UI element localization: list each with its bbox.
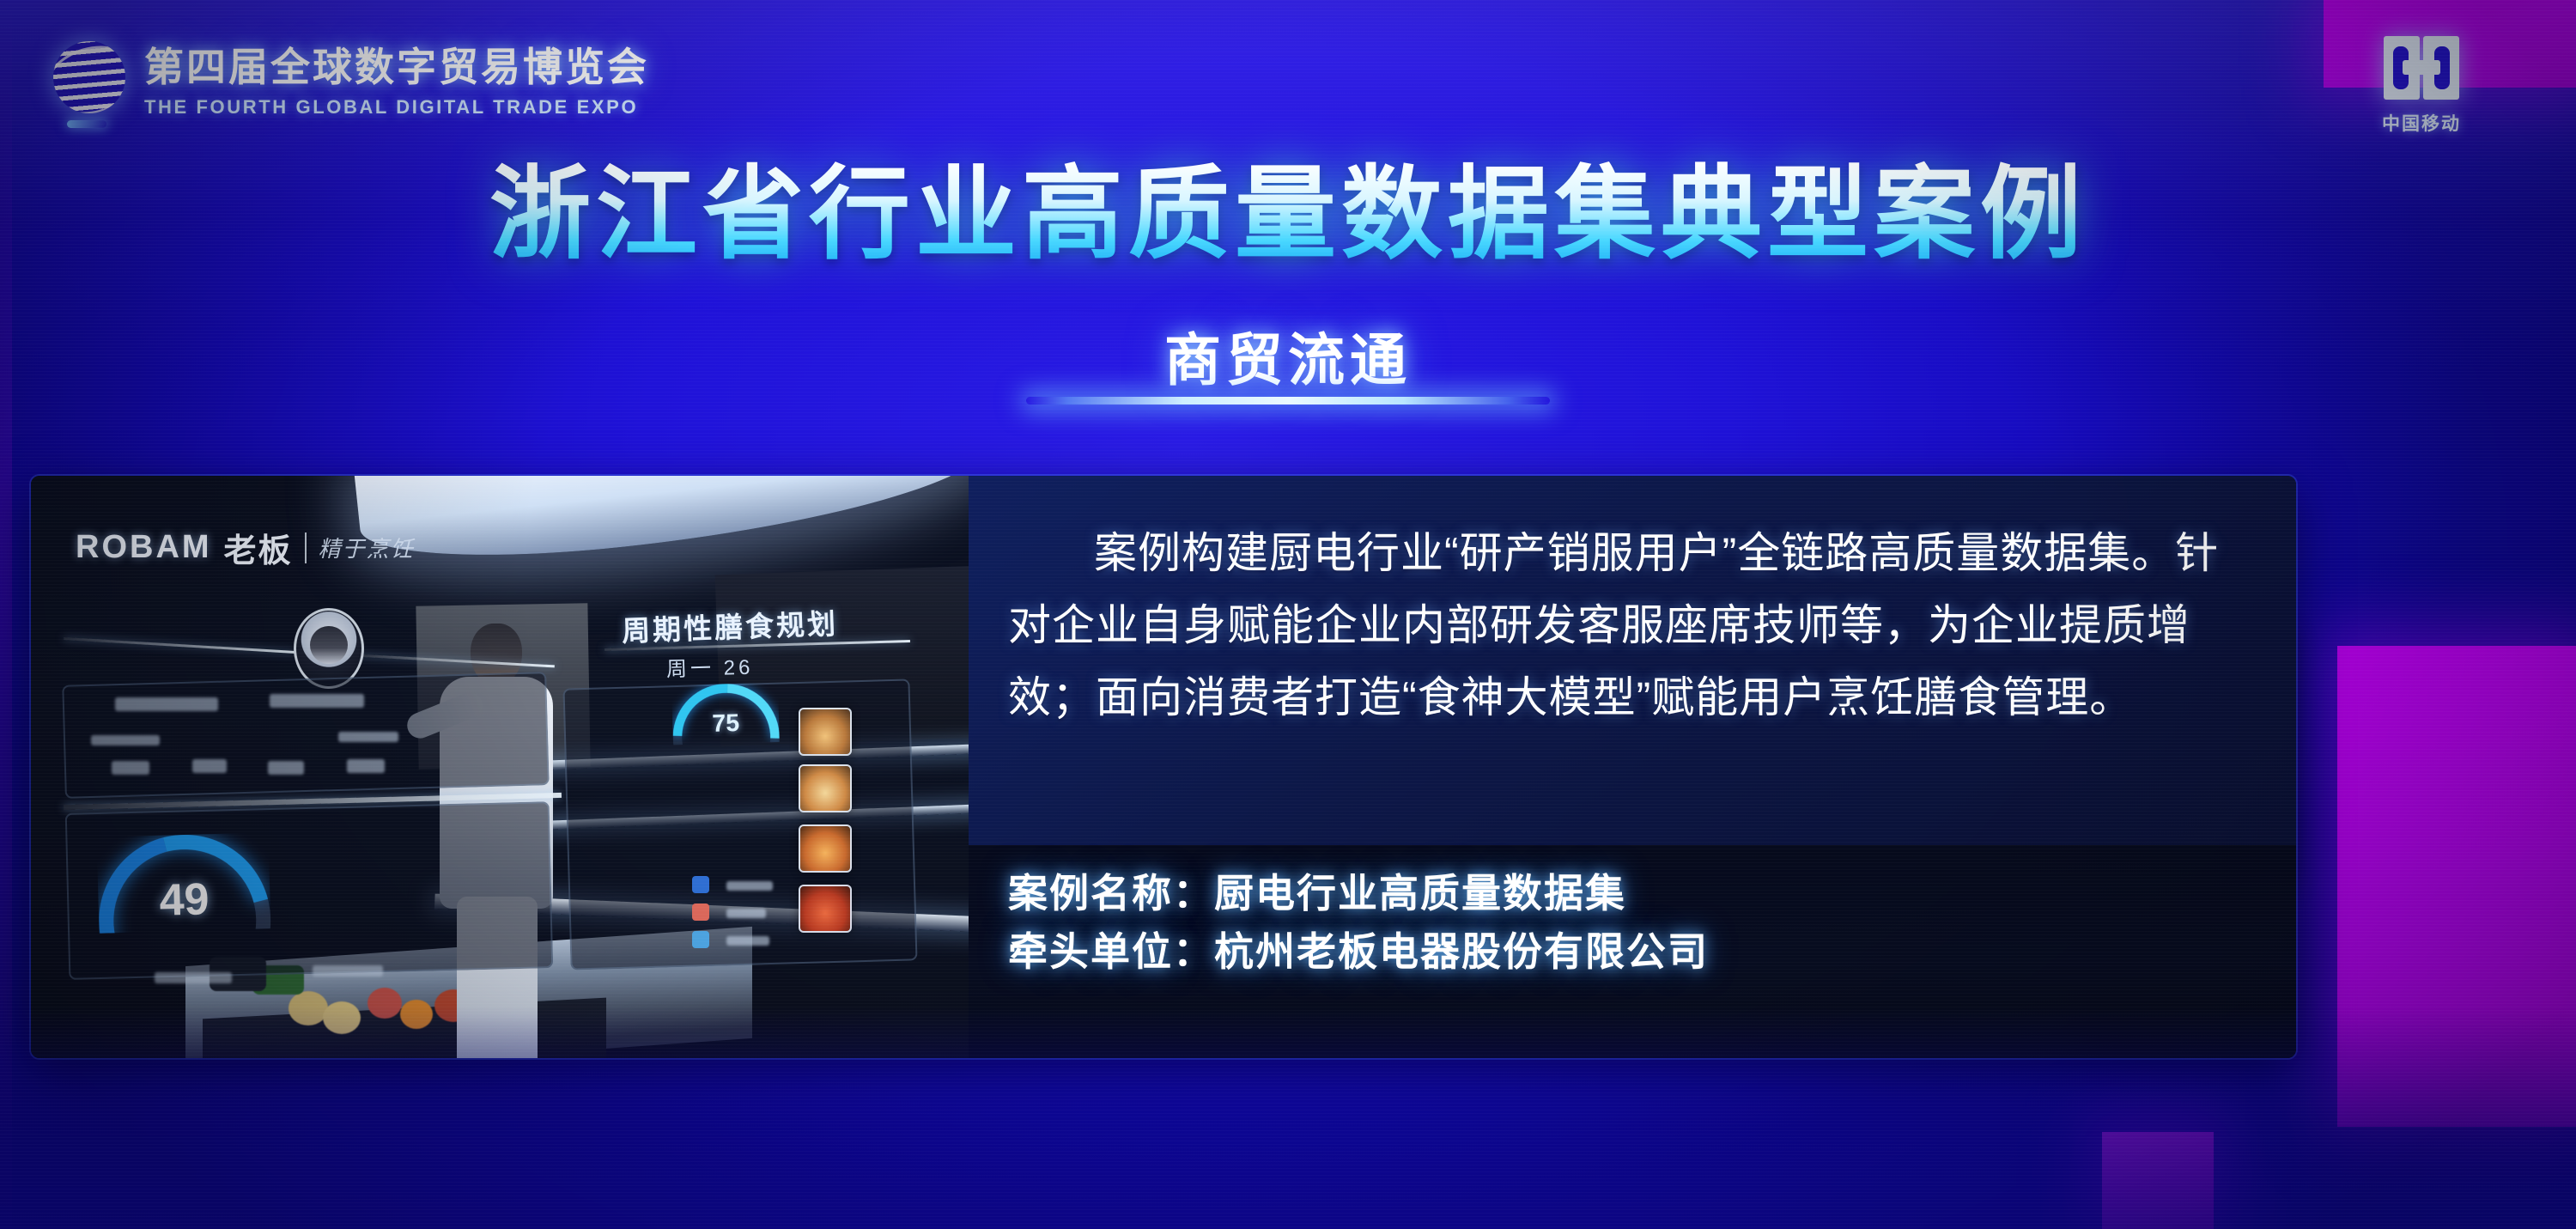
kitchen-dashboard: ROBAM 老板 精于烹饪 周期性膳食规划 周一 26 (55, 515, 914, 962)
gauge-value: 75 (672, 707, 780, 739)
dashboard-title: 周期性膳食规划 (621, 601, 839, 650)
lead-unit-line: 牵头单位：杭州老板电器股份有限公司 (1008, 922, 2257, 981)
dashboard-metric-value (192, 759, 227, 773)
background-bottom-shade (0, 1006, 2576, 1229)
dashboard-metric-label (155, 972, 232, 983)
case-description: 案例构建厨电行业“研产销服用户”全链路高质量数据集。针对企业自身赋能企业内部研发… (1008, 517, 2248, 733)
case-description-block: 案例构建厨电行业“研产销服用户”全链路高质量数据集。针对企业自身赋能企业内部研发… (969, 476, 2296, 845)
robam-brand: ROBAM 老板 精于烹饪 (76, 524, 415, 571)
partner-name-cn: 中国移动 (2382, 110, 2461, 136)
dashboard-metric-label (270, 694, 364, 708)
presentation-screen: 第四届全球数字贸易博览会 THE FOURTH GLOBAL DIGITAL T… (0, 0, 2576, 1229)
legend-label (726, 881, 773, 891)
dashboard-metric-label (115, 697, 218, 711)
legend-swatch (692, 903, 709, 921)
meal-thumbnail (799, 824, 852, 873)
robam-brand-en: ROBAM (76, 529, 212, 566)
china-mobile-logo-icon (2382, 34, 2461, 101)
dashboard-metric-value (347, 759, 385, 773)
expo-name-cn: 第四届全球数字贸易博览会 (144, 36, 649, 93)
expo-logo: 第四届全球数字贸易博览会 THE FOURTH GLOBAL DIGITAL T… (53, 36, 649, 119)
legend-label (726, 909, 766, 918)
legend-label (726, 936, 769, 946)
gauge-value: 49 (98, 872, 271, 928)
dashboard-metric-label (338, 732, 398, 742)
partner-logo: 中国移动 (2370, 34, 2473, 136)
robam-slogan: 精于烹饪 (319, 532, 415, 563)
globe-icon (53, 41, 125, 113)
case-card: ROBAM 老板 精于烹饪 周期性膳食规划 周一 26 (31, 476, 2296, 1058)
case-name-line: 案例名称：厨电行业高质量数据集 (1008, 864, 2257, 922)
dashboard-metric-label (313, 965, 383, 977)
brand-separator (305, 532, 307, 563)
dashboard-rule (357, 654, 555, 668)
globe-swoosh-icon (67, 120, 106, 128)
dashboard-subtitle: 周一 26 (666, 650, 754, 683)
meal-thumbnail (799, 885, 852, 933)
case-text-side: 案例构建厨电行业“研产销服用户”全链路高质量数据集。针对企业自身赋能企业内部研发… (969, 476, 2296, 1058)
dashboard-rule (64, 637, 295, 654)
robam-brand-cn: 老板 (224, 524, 293, 571)
dashboard-metric-value (268, 761, 304, 775)
page-title: 浙江省行业高质量数据集典型案例 (0, 160, 2576, 271)
legend-swatch (692, 931, 709, 948)
legend-swatch (692, 876, 709, 893)
dashboard-metric-value (112, 761, 149, 775)
title-divider (1026, 397, 1550, 405)
dashboard-gauge-primary: 49 (96, 832, 270, 934)
expo-name-en: THE FOURTH GLOBAL DIGITAL TRADE EXPO (144, 96, 649, 119)
meal-thumbnail (799, 708, 852, 756)
page-subtitle: 商贸流通 (0, 314, 2576, 397)
dashboard-gauge-secondary: 75 (671, 683, 780, 745)
case-photo: ROBAM 老板 精于烹饪 周期性膳食规划 周一 26 (31, 476, 969, 1058)
dashboard-metric-label (91, 735, 160, 745)
meal-thumbnail (799, 764, 852, 812)
